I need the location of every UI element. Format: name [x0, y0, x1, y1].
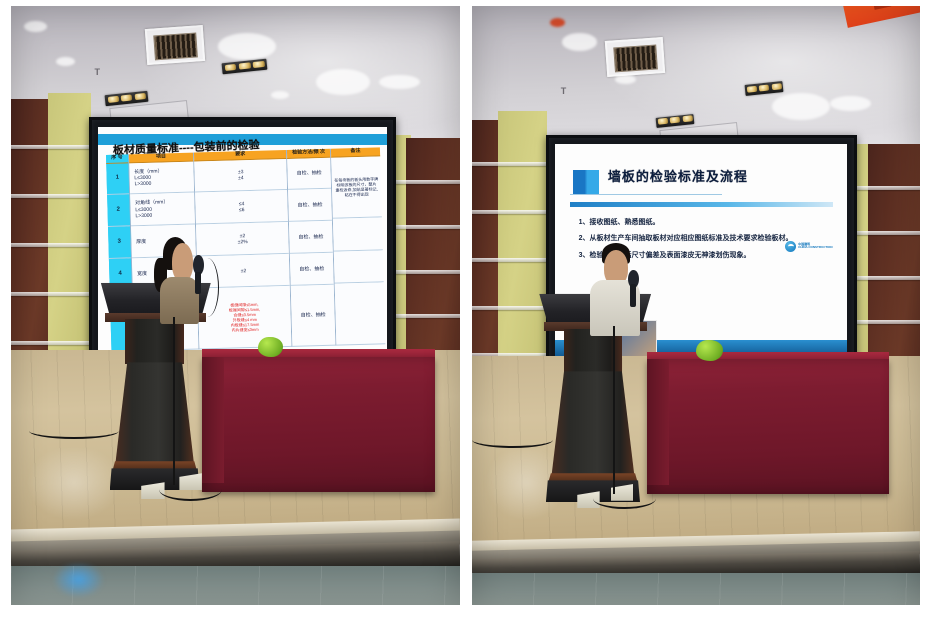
wall-seam — [11, 194, 92, 198]
ceiling-patch — [615, 75, 635, 84]
green-bag[interactable] — [696, 340, 723, 360]
wall-seam — [472, 258, 548, 262]
wall-seam — [848, 186, 920, 190]
wall-panels-olive-left — [48, 93, 91, 381]
floor-cable — [613, 326, 628, 494]
floor-reflection — [29, 563, 128, 605]
left-photo[interactable]: T 板材质量标准----包装前的检验 — [11, 6, 460, 605]
ceiling-patch — [562, 33, 598, 51]
wall-seam — [472, 306, 548, 310]
red-draped-table-side — [647, 359, 669, 485]
ceiling-patch — [218, 33, 276, 60]
red-draped-table-side — [202, 357, 224, 483]
table-cell: 自检、抽检 — [290, 253, 334, 286]
wall-seam — [11, 292, 92, 296]
wall-seam — [472, 162, 548, 166]
table-column-remark: 备注 在每块板的板头用数字牌 标明该板的尺寸，整片 重检返修,加贴显著标记, 粘… — [331, 147, 385, 345]
table-cell: 自检、抽检 — [289, 221, 333, 254]
ceiling-air-vent-icon — [605, 37, 665, 77]
wall-seam — [848, 276, 920, 280]
company-logo-text: 中国建筑 CHINA CONSTRUCTION — [798, 243, 832, 251]
floor-cable — [29, 422, 119, 438]
floor-cable — [159, 478, 222, 501]
table-column-method: 检验方法/频 次 自检、抽检 自检、抽检 自检、抽检 自检、抽检 自检、抽检 — [287, 148, 337, 346]
ceiling-patch — [24, 21, 46, 32]
table-cell — [333, 217, 382, 251]
slide-title: 墙板的检验标准及流程 — [608, 166, 748, 185]
ceiling-sprinkler-icon: T — [561, 86, 566, 96]
slide-rule-thin — [570, 194, 722, 195]
ceiling-patch — [379, 75, 419, 89]
table-cell: ±3 ±4 — [194, 158, 287, 192]
wall-seam — [848, 320, 920, 324]
green-bag[interactable] — [258, 337, 283, 357]
wall-seam — [11, 243, 92, 247]
ceiling-patch — [271, 91, 289, 99]
ceiling-sprinkler-head — [550, 18, 565, 27]
company-logo: 中国建筑 CHINA CONSTRUCTION — [785, 241, 832, 252]
table-cell: 在每块板的板头用数字牌 标明该板的尺寸，整片 重检返修,加贴显著标记, 粘在不得… — [331, 156, 381, 219]
table-row: 2 — [107, 194, 129, 226]
table-row: 3 — [108, 226, 130, 258]
floor-cable — [173, 317, 186, 485]
wall-panels-dark-left — [11, 99, 50, 375]
wall-seam — [472, 210, 548, 214]
microphone-boom-arm — [195, 258, 218, 318]
screenshot-root: T 板材质量标准----包装前的检验 — [0, 0, 931, 617]
slide-title-accent-block — [573, 170, 599, 194]
table-cell — [335, 282, 385, 345]
table-cell: 自检、抽检 — [288, 189, 332, 222]
ceiling-air-vent-icon — [144, 25, 204, 65]
list-item: 1、接收图纸、熟悉图纸。 — [579, 215, 830, 231]
wall-seam — [11, 341, 92, 345]
table-cell: 长度（mm） L≤3000 L>3000 — [128, 161, 194, 195]
presenter-male[interactable] — [584, 243, 660, 333]
red-draped-table — [647, 359, 889, 494]
table-header-cell: 序 号 — [106, 154, 128, 163]
table-cell: 对角线（mm） L≤3000 L>3000 — [129, 193, 195, 227]
floor-cable — [472, 431, 553, 447]
table-cell: ≤4 ≤6 — [195, 190, 288, 224]
table-cell: 自检、抽检 — [290, 284, 335, 346]
company-logo-mark-icon — [785, 241, 796, 252]
red-draped-table — [202, 357, 435, 492]
wall-seam — [848, 231, 920, 235]
microphone-body — [630, 284, 636, 307]
wall-seam — [11, 145, 92, 149]
ceiling-sprinkler-icon: T — [95, 67, 100, 77]
table-cell — [334, 250, 383, 284]
table-cell: 自检、抽检 — [287, 157, 331, 190]
lower-floor — [472, 573, 920, 605]
right-photo[interactable]: T 墙板的检验标准及流程 — [472, 6, 920, 605]
slide-rule — [570, 202, 833, 207]
table-row: 1 — [106, 163, 128, 195]
